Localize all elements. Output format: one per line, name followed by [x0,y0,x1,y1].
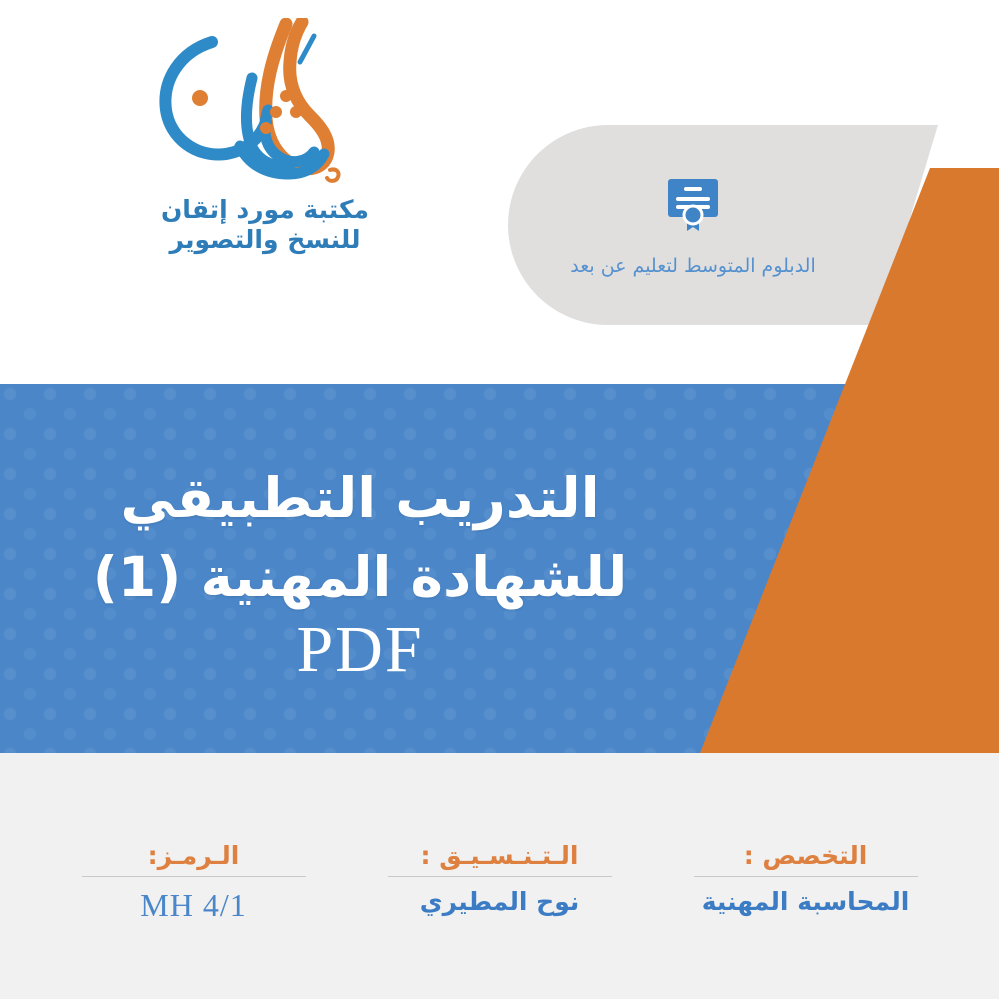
product-cover: مكتبة مورد إتقان للنسخ والتصوير الدبلوم … [0,0,999,999]
meta-label-specialization: التخصص : [690,841,922,876]
meta-divider [694,876,918,877]
brand-logo: مكتبة مورد إتقان للنسخ والتصوير [120,18,410,278]
certificate-icon [662,173,724,235]
format-label: PDF [296,617,423,683]
footer: التخصص : المحاسبة المهنية الـتـنـسـيـق :… [0,753,999,999]
diploma-badge-label: الدبلوم المتوسط لتعليم عن بعد [570,255,816,277]
diploma-badge: الدبلوم المتوسط لتعليم عن بعد [508,125,938,325]
meta-divider [82,876,306,877]
brand-name: مكتبة مورد إتقان للنسخ والتصوير [120,195,410,254]
meta-value-specialization: المحاسبة المهنية [690,887,922,916]
meta-row: التخصص : المحاسبة المهنية الـتـنـسـيـق :… [0,841,999,924]
meta-column-code: الـرمـز: MH 4/1 [78,841,310,924]
meta-column-coordination: الـتـنـسـيـق : نوح المطيري [384,841,616,916]
meta-value-coordination: نوح المطيري [384,887,616,916]
meta-value-code: MH 4/1 [78,887,310,924]
header: مكتبة مورد إتقان للنسخ والتصوير الدبلوم … [0,0,999,384]
brand-name-line1: مكتبة مورد إتقان [120,195,410,225]
meta-label-coordination: الـتـنـسـيـق : [384,841,616,876]
meta-column-specialization: التخصص : المحاسبة المهنية [690,841,922,916]
itqan-calligraphy-logo-icon [140,18,390,193]
title-block: التدريب التطبيقي للشهادة المهنية (1) PDF [0,384,720,753]
title-line-1: التدريب التطبيقي [120,454,599,532]
meta-label-code: الـرمـز: [78,841,310,876]
brand-name-line2: للنسخ والتصوير [120,225,410,255]
meta-divider [388,876,612,877]
title-line-2: للشهادة المهنية (1) [93,533,628,611]
diploma-badge-content: الدبلوم المتوسط لتعليم عن بعد [508,125,878,325]
